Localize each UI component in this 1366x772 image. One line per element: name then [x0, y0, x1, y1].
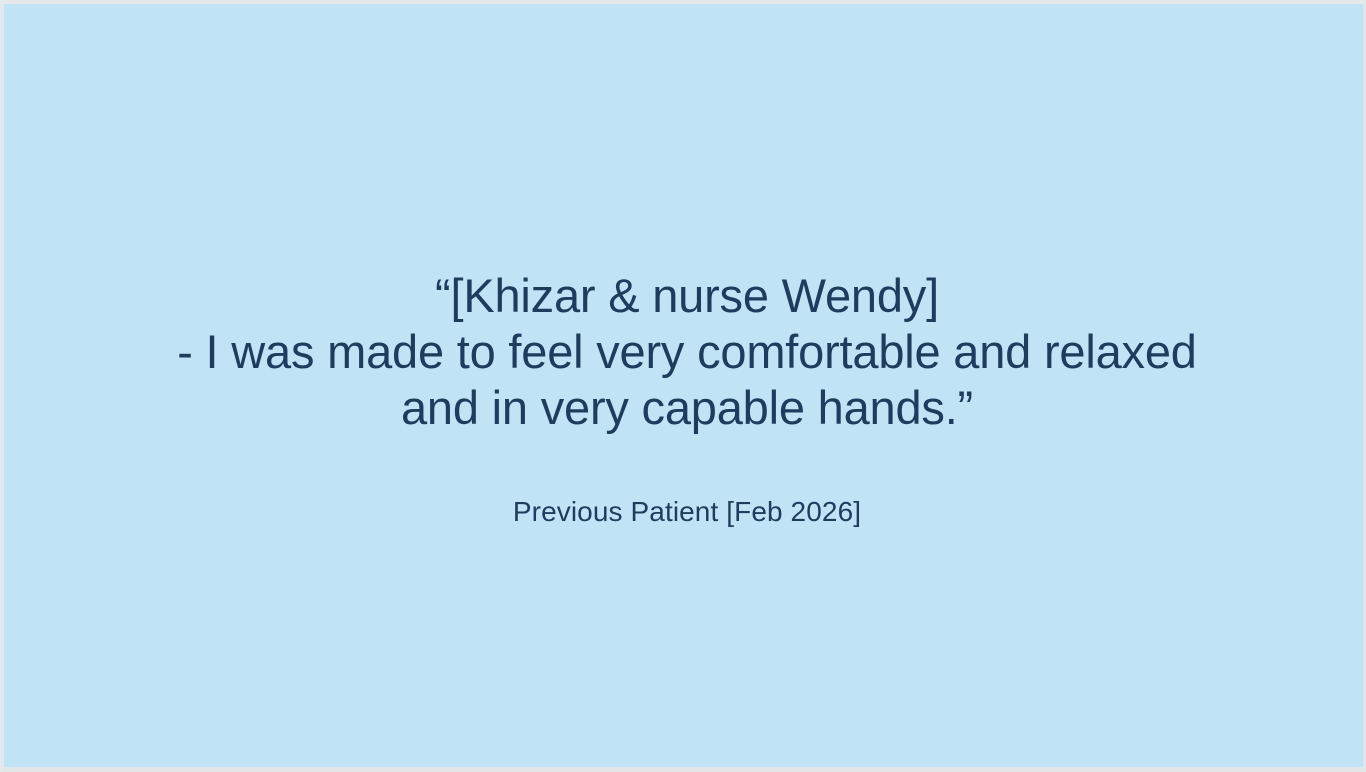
quote-line-3: and in very capable hands.” [4, 380, 1366, 436]
testimonial-quote: “[Khizar & nurse Wendy] - I was made to … [4, 268, 1366, 436]
quote-line-1: “[Khizar & nurse Wendy] [4, 268, 1366, 324]
testimonial-slide: “[Khizar & nurse Wendy] - I was made to … [0, 0, 1366, 772]
quote-attribution: Previous Patient [Feb 2026] [4, 494, 1366, 530]
quote-line-2: - I was made to feel very comfortable an… [4, 324, 1366, 380]
